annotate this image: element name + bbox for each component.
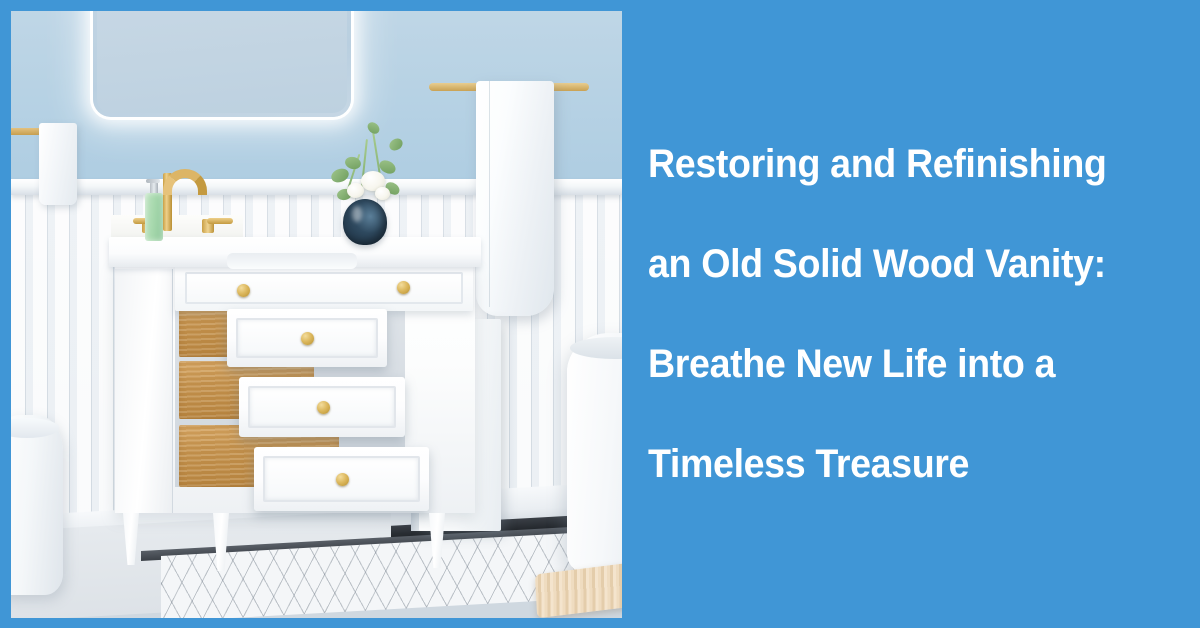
open-drawer-top (175, 265, 473, 311)
flower-bloom (375, 187, 390, 200)
blog-header-banner: Restoring and Refinishing an Old Solid W… (0, 0, 1200, 628)
flower-vase (343, 199, 387, 245)
vanity-leg (123, 513, 139, 565)
open-drawer-2 (239, 377, 405, 437)
open-drawer-1 (227, 309, 387, 367)
vanity-leg (213, 513, 229, 571)
cabinet-side-panel (115, 269, 173, 513)
led-mirror (93, 11, 351, 117)
undermount-sink (227, 253, 357, 269)
mirror-glass (97, 11, 347, 113)
toilet (11, 415, 63, 595)
faucet-handle-right (207, 218, 233, 224)
headline-line-4: Timeless Treasure (648, 414, 1135, 514)
drawer-knob (301, 332, 314, 345)
headline-line-2: an Old Solid Wood Vanity: (648, 214, 1135, 314)
drawer-knob (336, 473, 349, 486)
headline-panel: Restoring and Refinishing an Old Solid W… (622, 0, 1200, 628)
drawer-front-panel (185, 272, 463, 304)
toilet-lid (11, 418, 59, 438)
headline-line-1: Restoring and Refinishing (648, 114, 1135, 214)
open-drawer-3 (254, 447, 429, 511)
soap-dispenser (145, 193, 163, 241)
towel-left (39, 123, 77, 205)
vanity-leg (429, 513, 445, 568)
vanity-cabinet (109, 237, 489, 567)
drawer-knob (237, 284, 250, 297)
drawer-knob (397, 281, 410, 294)
bathtub (567, 333, 622, 578)
headline-line-3: Breathe New Life into a (648, 314, 1135, 414)
flower-bloom (347, 183, 364, 198)
bathroom-vanity-photo (11, 11, 622, 618)
drawer-knob (317, 401, 330, 414)
